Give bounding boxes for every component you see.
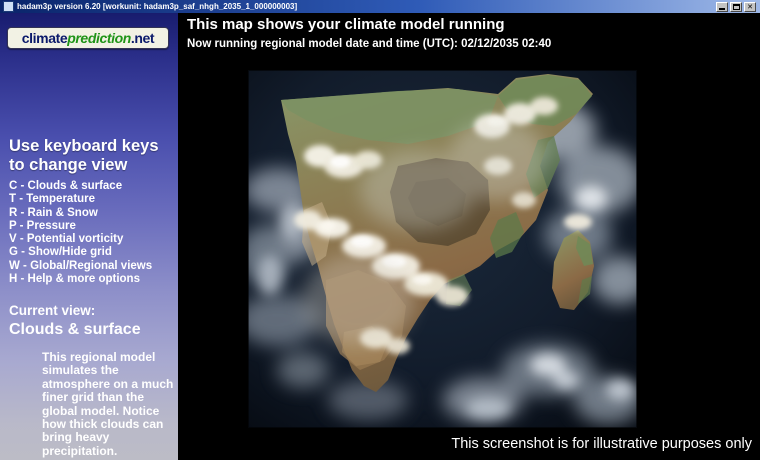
keyboard-shortcut-p: P - Pressure [9,220,178,233]
climate-model-map[interactable] [248,70,637,428]
keyboard-shortcut-r: R - Rain & Snow [9,207,178,220]
close-button[interactable]: ✕ [744,2,756,12]
keyboard-shortcut-v: V - Potential vorticity [9,233,178,246]
keyboard-help-title: Use keyboard keys to change view [9,137,177,175]
keyboard-shortcut-t: T - Temperature [9,193,178,206]
climateprediction-logo[interactable]: climateprediction.net [7,27,169,49]
app-icon[interactable] [3,1,14,12]
illustrative-note: This screenshot is for illustrative purp… [451,436,752,453]
logo-text-climate: climate [22,30,67,46]
window-title-bar[interactable]: hadam3p version 6.20 [workunit: hadam3p_… [0,0,760,13]
keyboard-shortcut-c: C - Clouds & surface [9,180,178,193]
keyboard-shortcut-w: W - Global/Regional views [9,260,178,273]
keyboard-shortcut-list: C - Clouds & surface T - Temperature R -… [9,180,178,286]
minimize-button[interactable] [716,2,728,12]
page-title: This map shows your climate model runnin… [187,16,505,34]
main-panel: This map shows your climate model runnin… [178,13,760,460]
close-icon: ✕ [745,3,755,11]
map-render [248,70,637,428]
keyboard-shortcut-h: H - Help & more options [9,273,178,286]
logo-text-prediction: prediction [67,30,131,46]
keyboard-shortcut-g: G - Show/Hide grid [9,246,178,259]
application-window: hadam3p version 6.20 [workunit: hadam3p_… [0,0,760,460]
current-view-description: This regional model simulates the atmosp… [42,351,176,458]
window-title-text: hadam3p version 6.20 [workunit: hadam3p_… [17,2,716,11]
sidebar: climateprediction.net Use keyboard keys … [0,13,178,460]
model-status-text: Now running regional model date and time… [187,37,551,51]
current-view-label: Current view: [9,303,95,319]
current-view-value: Clouds & surface [9,321,141,339]
maximize-button[interactable] [730,2,742,12]
logo-text-net: .net [131,30,154,46]
window-controls: ✕ [716,2,756,12]
